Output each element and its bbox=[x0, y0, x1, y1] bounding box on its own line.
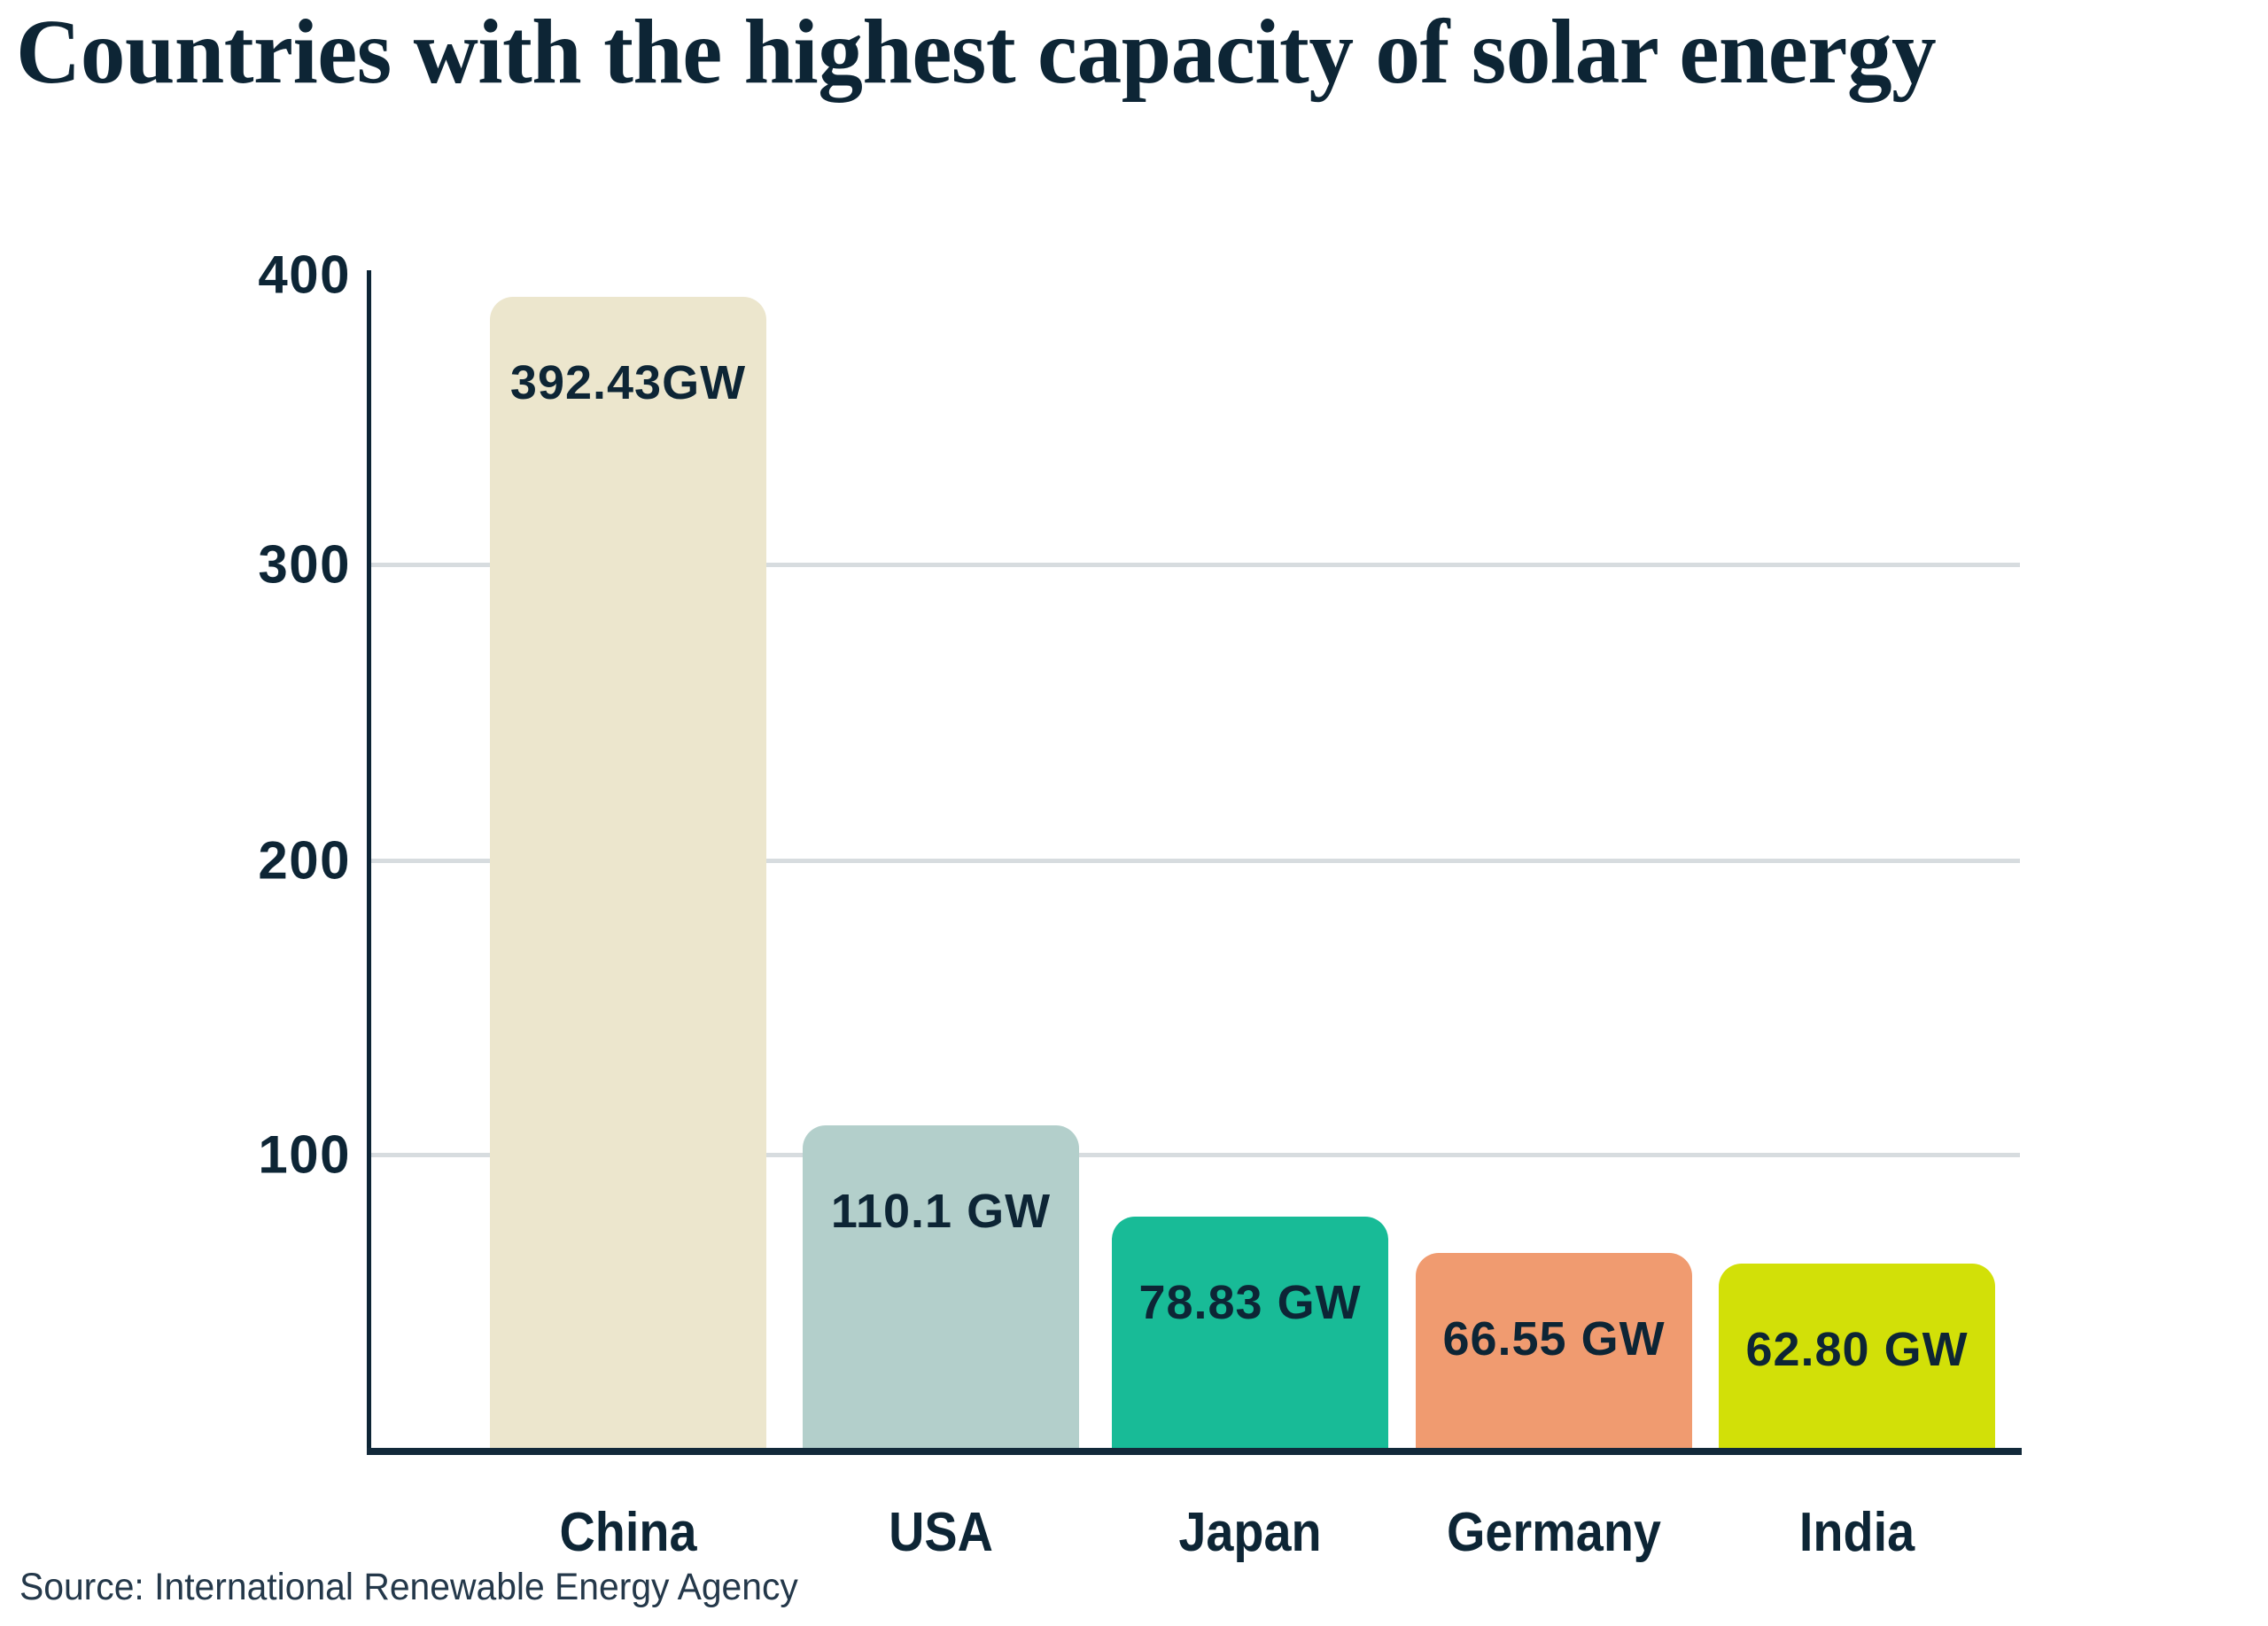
bar-usa[interactable]: 110.1 GW bbox=[803, 1125, 1079, 1448]
bar-germany[interactable]: 66.55 GW bbox=[1416, 1253, 1692, 1448]
bar-china[interactable]: 392.43GW bbox=[490, 297, 766, 1448]
x-axis-label-japan: Japan bbox=[1083, 1501, 1417, 1564]
bar-value-india: 62.80 GW bbox=[1719, 1322, 1995, 1377]
source-note: Source: International Renewable Energy A… bbox=[19, 1566, 798, 1609]
chart-canvas: Countries with the highest capacity of s… bbox=[0, 0, 2268, 1626]
bar-value-china: 392.43GW bbox=[490, 355, 766, 410]
y-tick-label-100: 100 bbox=[138, 1124, 351, 1186]
bar-value-usa: 110.1 GW bbox=[803, 1184, 1079, 1239]
x-axis-line bbox=[367, 1448, 2022, 1455]
y-tick-label-400: 400 bbox=[138, 245, 351, 306]
bar-value-japan: 78.83 GW bbox=[1112, 1275, 1388, 1330]
bar-japan[interactable]: 78.83 GW bbox=[1112, 1217, 1388, 1448]
y-tick-label-300: 300 bbox=[138, 534, 351, 595]
y-tick-label-200: 200 bbox=[138, 830, 351, 891]
y-axis-line bbox=[367, 270, 371, 1452]
plot-area: 400 300 200 100 392.43GW 110.1 GW 78.83 … bbox=[0, 0, 2268, 1626]
bar-india[interactable]: 62.80 GW bbox=[1719, 1264, 1995, 1448]
x-axis-label-india: India bbox=[1689, 1501, 2024, 1564]
x-axis-label-china: China bbox=[461, 1501, 796, 1564]
x-axis-label-germany: Germany bbox=[1386, 1501, 1721, 1564]
x-axis-label-usa: USA bbox=[773, 1501, 1108, 1564]
bar-value-germany: 66.55 GW bbox=[1416, 1311, 1692, 1366]
